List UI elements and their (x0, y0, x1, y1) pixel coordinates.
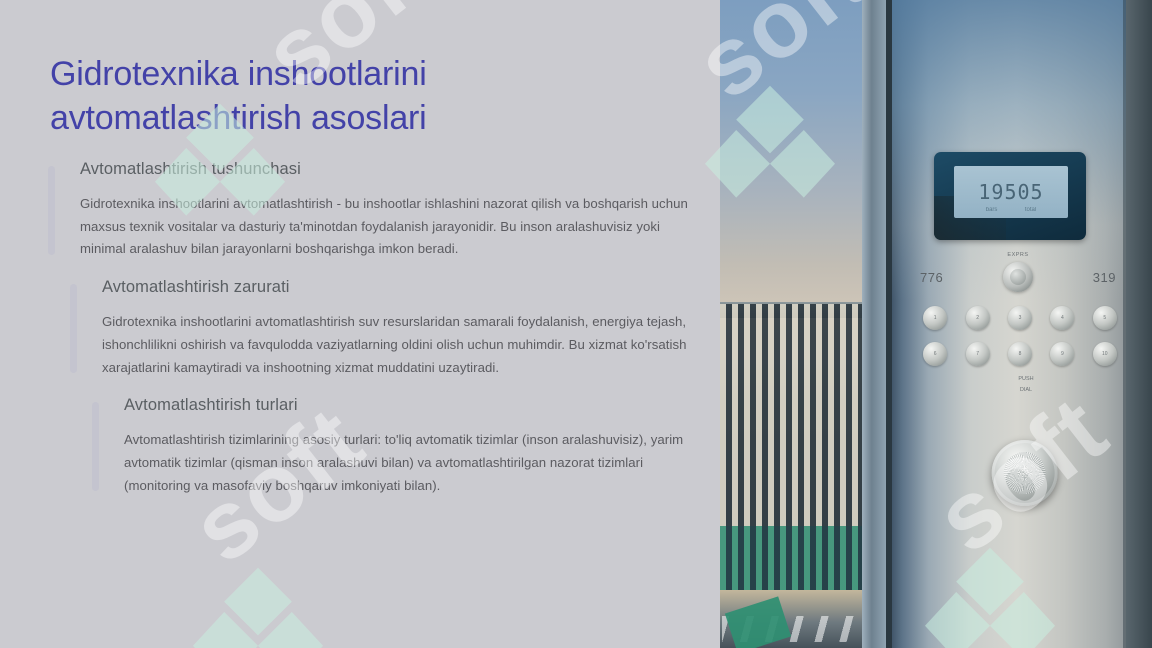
accent-bar (92, 402, 99, 491)
lcd-sublabel-left: bars (986, 207, 998, 213)
push-button[interactable]: 7 (966, 342, 990, 366)
content-section: Avtomatlashtirish zarurati Gidrotexnika … (70, 278, 696, 379)
push-button[interactable]: 9 (1050, 342, 1074, 366)
accent-bar (70, 284, 77, 373)
push-button-label: 10 (1102, 351, 1108, 357)
push-button-label: 1 (934, 315, 937, 321)
push-button[interactable]: 4 (1050, 306, 1074, 330)
panel-label-left: 776 (920, 270, 943, 285)
rotary-knob[interactable]: EXPRS (1003, 262, 1033, 292)
push-button-label: 3 (1019, 315, 1022, 321)
lcd-sublabels: bars total (954, 207, 1068, 213)
push-button-label: 6 (934, 351, 937, 357)
push-button[interactable]: 5 (1093, 306, 1117, 330)
push-button-label: 5 (1103, 315, 1106, 321)
lcd-screen: 19505 bars total (954, 166, 1068, 218)
page-title-line-2: avtomatlashtirish asoslari (50, 96, 650, 140)
presentation-slide: Gidrotexnika inshootlarini avtomatlashti… (0, 0, 1152, 648)
section-body: Gidrotexnika inshootlarini avtomatlashti… (80, 193, 696, 261)
push-button[interactable]: 6 (923, 342, 947, 366)
push-button[interactable]: 3 (1008, 306, 1032, 330)
push-button-label: 9 (1061, 351, 1064, 357)
push-button[interactable]: 8 (1008, 342, 1032, 366)
content-section: Avtomatlashtirish tushunchasi Gidrotexni… (48, 160, 696, 261)
panel-note-line-2: DIAL (900, 386, 1152, 395)
glass-pillar (862, 0, 886, 648)
content-pane: Gidrotexnika inshootlarini avtomatlashti… (0, 0, 720, 648)
section-list: Avtomatlashtirish tushunchasi Gidrotexni… (0, 160, 720, 514)
panel-note-line-1: PUSH (900, 375, 1152, 384)
large-rotary-dial[interactable] (992, 440, 1058, 506)
lcd-value: 19505 (978, 180, 1043, 204)
section-body: Gidrotexnika inshootlarini avtomatlashti… (102, 311, 696, 379)
knob-label: EXPRS (1003, 252, 1033, 258)
content-section: Avtomatlashtirish turlari Avtomatlashtir… (92, 396, 696, 497)
large-dial-wrap[interactable] (992, 440, 1058, 506)
lcd-sublabel-right: total (1025, 207, 1036, 213)
lcd-display: 19505 bars total (934, 152, 1086, 240)
section-heading: Avtomatlashtirish turlari (124, 396, 696, 415)
push-button-grid: 1 2 3 4 5 6 7 8 9 10 (914, 306, 1126, 366)
push-button-label: 4 (1061, 315, 1064, 321)
section-heading: Avtomatlashtirish tushunchasi (80, 160, 696, 179)
page-title-line-1: Gidrotexnika inshootlarini (50, 52, 650, 96)
push-button-label: 2 (976, 315, 979, 321)
knob-cap (1010, 269, 1026, 285)
push-button-label: 7 (976, 351, 979, 357)
push-button[interactable]: 1 (923, 306, 947, 330)
page-title: Gidrotexnika inshootlarini avtomatlashti… (50, 52, 650, 140)
push-button[interactable]: 10 (1093, 342, 1117, 366)
section-heading: Avtomatlashtirish zarurati (102, 278, 696, 297)
panel-label-row: 776 EXPRS 319 (920, 262, 1116, 292)
panel-note: PUSH DIAL (892, 375, 1152, 395)
slide-photo: 19505 bars total 776 EXPRS 319 1 (720, 0, 1152, 648)
column-far-edge (1126, 0, 1152, 648)
section-body: Avtomatlashtirish tizimlarining asosiy t… (124, 429, 696, 497)
push-button-label: 8 (1019, 351, 1022, 357)
panel-label-right: 319 (1093, 270, 1116, 285)
accent-bar (48, 166, 55, 255)
push-button[interactable]: 2 (966, 306, 990, 330)
control-panel-column: 19505 bars total 776 EXPRS 319 1 (892, 0, 1152, 648)
